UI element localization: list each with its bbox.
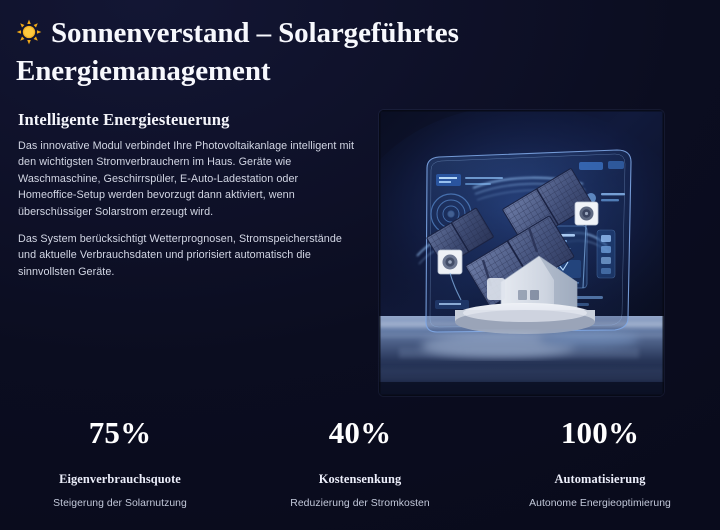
slide-root: Sonnenverstand – Solargeführtes Energiem… — [0, 0, 720, 530]
stat-label: Kostensenkung — [240, 472, 480, 487]
sun-icon — [16, 19, 42, 45]
stat-block-3: 100% Automatisierung Autonome Energieopt… — [480, 414, 720, 509]
stat-block-1: 75% Eigenverbrauchsquote Steigerung der … — [0, 414, 240, 509]
stat-value: 40% — [240, 414, 480, 452]
body-paragraph-1: Das innovative Modul verbindet Ihre Phot… — [18, 138, 354, 220]
stat-value: 100% — [480, 414, 720, 452]
section-subheading: Intelligente Energiesteuerung — [18, 110, 229, 130]
stats-row: 75% Eigenverbrauchsquote Steigerung der … — [0, 414, 720, 509]
title-text-1: Sonnenverstand – Solargeführtes — [51, 17, 459, 49]
stat-description: Steigerung der Solarnutzung — [0, 498, 240, 509]
title-line-2: Energiemanagement — [16, 52, 496, 90]
stat-description: Autonome Energieoptimierung — [480, 498, 720, 509]
stat-value: 75% — [0, 414, 240, 452]
stat-label: Eigenverbrauchsquote — [0, 472, 240, 487]
solar-hologram-image — [379, 110, 664, 396]
body-paragraph-2: Das System berücksichtigt Wetterprognose… — [18, 231, 354, 280]
stat-description: Reduzierung der Stromkosten — [240, 498, 480, 509]
title-line-1: Sonnenverstand – Solargeführtes — [16, 14, 496, 52]
stat-block-2: 40% Kostensenkung Reduzierung der Stromk… — [240, 414, 480, 509]
stat-label: Automatisierung — [480, 472, 720, 487]
page-title: Sonnenverstand – Solargeführtes Energiem… — [16, 14, 496, 91]
